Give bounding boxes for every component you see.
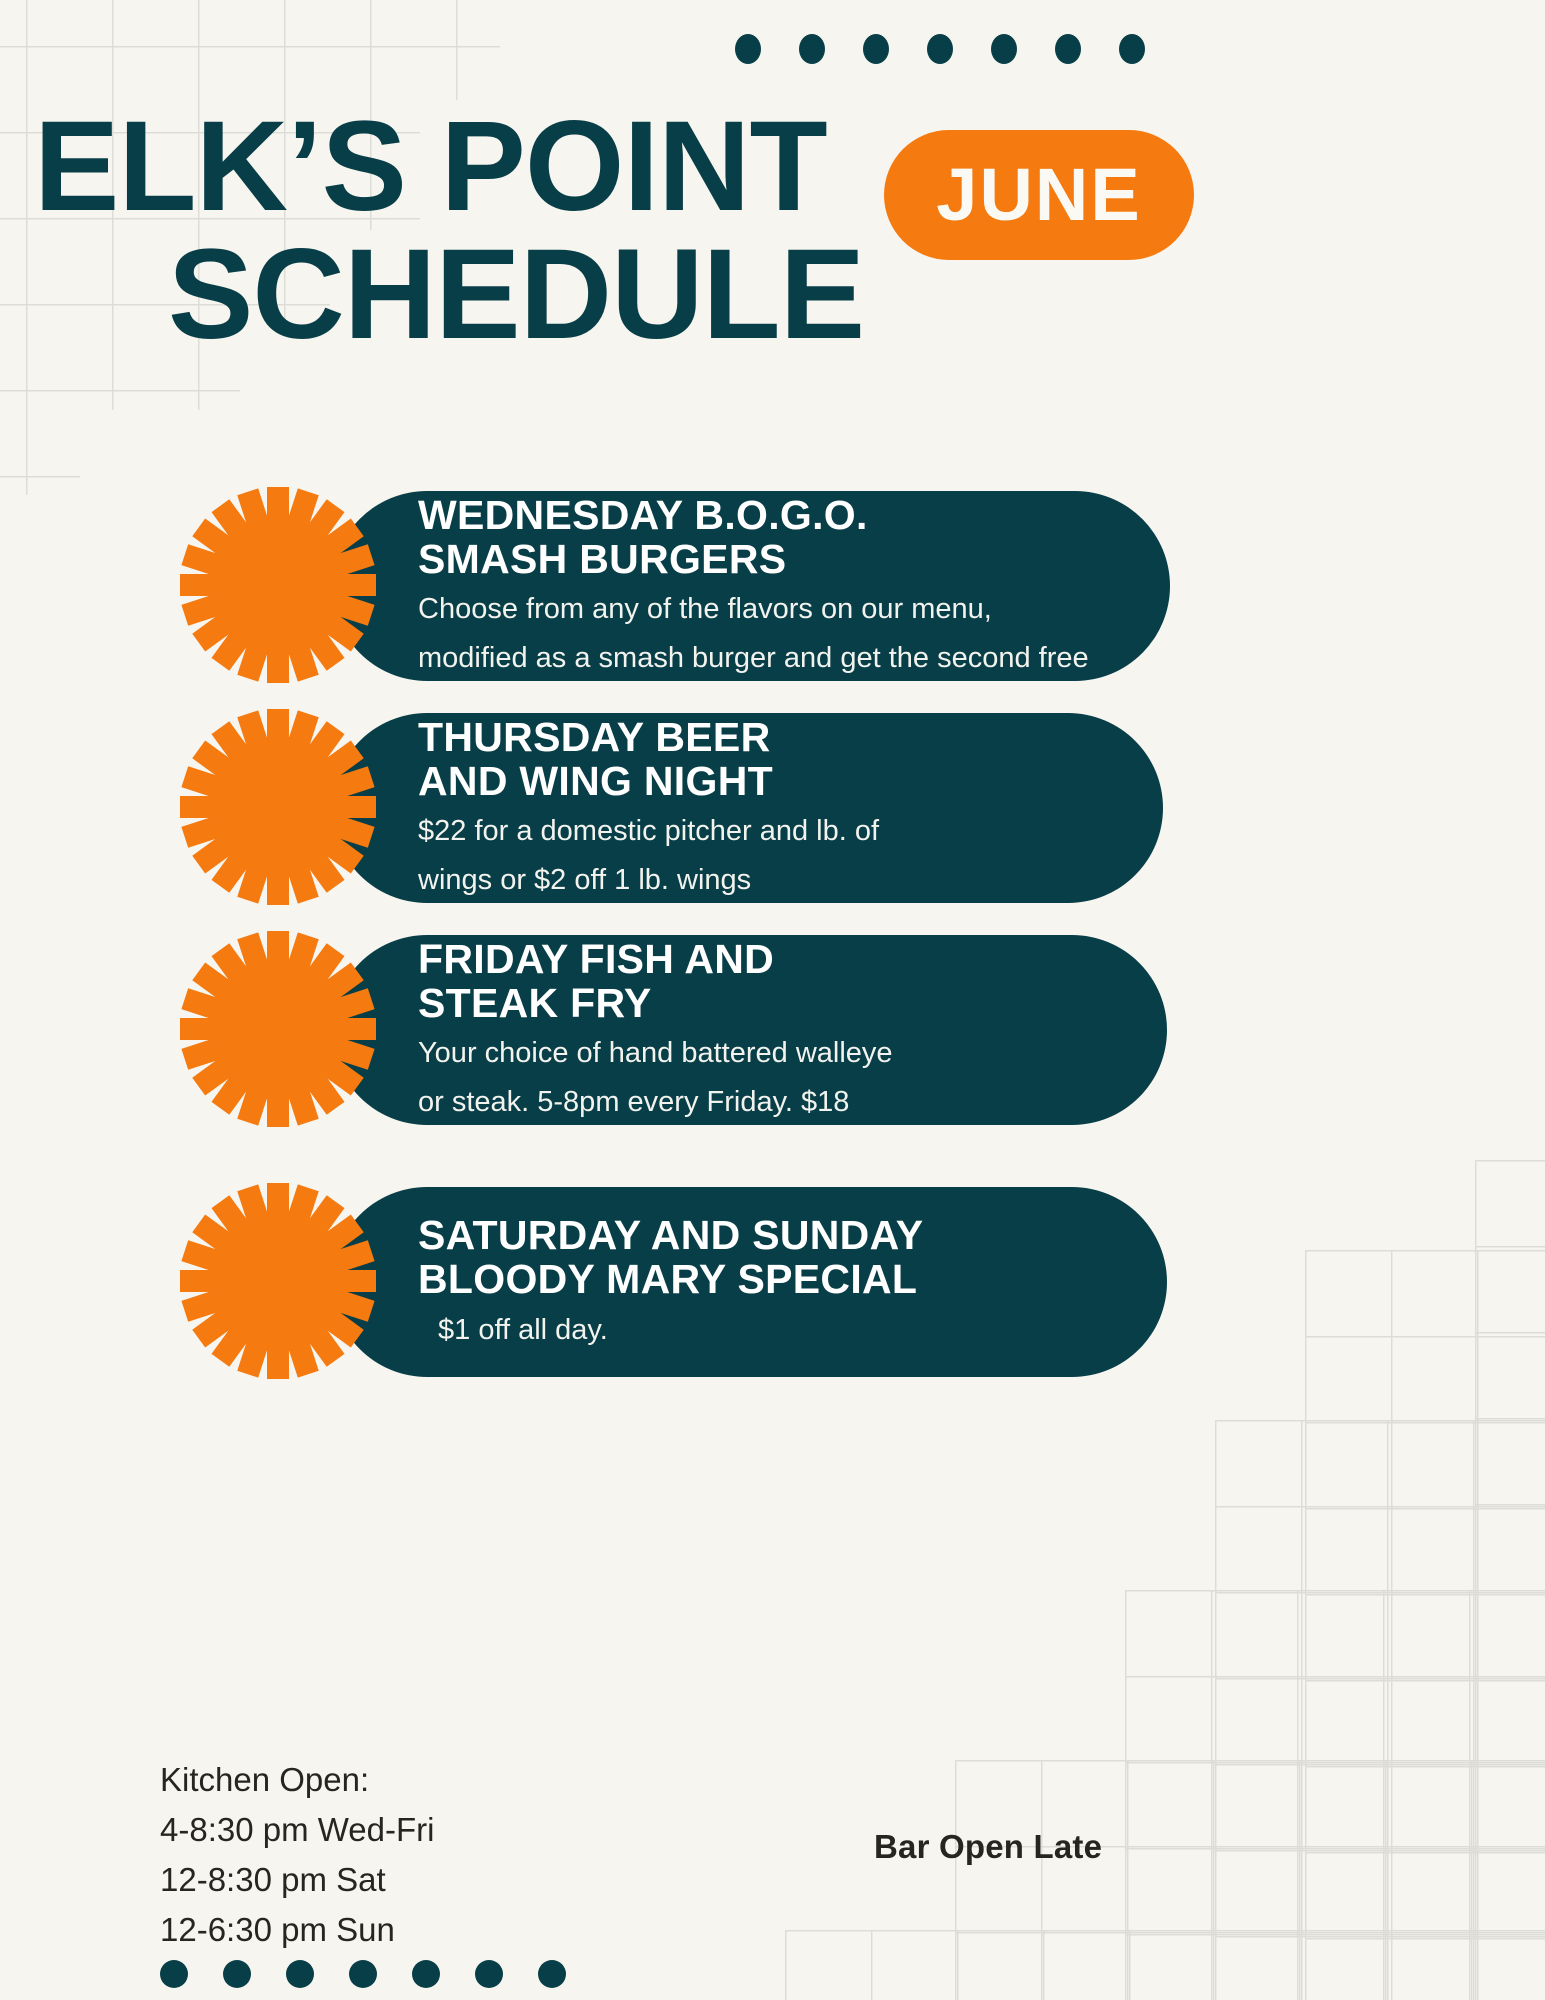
kitchen-hours-line: 12-8:30 pm Sat [160,1855,434,1905]
schedule-card-title: SATURDAY AND SUNDAY [418,1213,1107,1257]
schedule-card: WEDNESDAY B.O.G.O. SMASH BURGERS Choose … [0,485,1545,681]
dot-decoration [863,34,889,64]
dot-decoration [223,1960,251,1988]
schedule-card-title: FRIDAY FISH AND [418,937,1107,981]
schedule-card-panel: THURSDAY BEER AND WING NIGHT $22 for a d… [332,713,1163,903]
grid-decoration-bottom-right [1215,1420,1545,2000]
schedule-card-panel: WEDNESDAY B.O.G.O. SMASH BURGERS Choose … [332,491,1170,681]
starburst-icon [178,929,378,1129]
schedule-card-title: WEDNESDAY B.O.G.O. [418,493,1110,537]
schedule-card-title: SMASH BURGERS [418,537,1110,581]
starburst-icon [178,1181,378,1381]
dot-row-top [735,34,1145,64]
schedule-card: SATURDAY AND SUNDAY BLOODY MARY SPECIAL … [0,1181,1545,1377]
dot-decoration [412,1960,440,1988]
dot-decoration [927,34,953,64]
dot-decoration [799,34,825,64]
page-title-line-1: ELK’S POINT [0,108,1545,226]
schedule-card-panel: SATURDAY AND SUNDAY BLOODY MARY SPECIAL … [332,1187,1167,1377]
dot-decoration [735,34,761,64]
dot-decoration [1055,34,1081,64]
schedule-card-title: STEAK FRY [418,981,1107,1025]
month-badge: JUNE [884,130,1194,260]
schedule-card-title: AND WING NIGHT [418,759,1103,803]
schedule-card: FRIDAY FISH AND STEAK FRY Your choice of… [0,929,1545,1125]
dot-row-bottom [160,1960,566,1988]
schedule-card-description: wings or $2 off 1 lb. wings [418,860,1103,901]
schedule-card-description: or steak. 5-8pm every Friday. $18 [418,1082,1107,1123]
bar-open-note: Bar Open Late [874,1828,1102,1866]
schedule-card: THURSDAY BEER AND WING NIGHT $22 for a d… [0,707,1545,903]
month-badge-label: JUNE [936,158,1141,232]
grid-decoration-bottom-right [785,1930,1545,2000]
kitchen-hours-block: Kitchen Open: 4-8:30 pm Wed-Fri 12-8:30 … [160,1755,434,1956]
schedule-card-title: THURSDAY BEER [418,715,1103,759]
dot-decoration [160,1960,188,1988]
schedule-card-list: WEDNESDAY B.O.G.O. SMASH BURGERS Choose … [0,485,1545,1403]
dot-decoration [1119,34,1145,64]
poster-canvas: ELK’S POINT SCHEDULE JUNE [0,0,1545,2000]
dot-decoration [538,1960,566,1988]
schedule-card-panel: FRIDAY FISH AND STEAK FRY Your choice of… [332,935,1167,1125]
kitchen-hours-heading: Kitchen Open: [160,1755,434,1805]
schedule-card-description: $1 off all day. [418,1310,1107,1351]
poster-header: ELK’S POINT SCHEDULE JUNE [0,108,1545,354]
page-title-line-2: SCHEDULE [0,236,1545,354]
dot-decoration [286,1960,314,1988]
grid-decoration-bottom-right [1125,1590,1545,2000]
grid-decoration-bottom-right [955,1760,1545,2000]
dot-decoration [349,1960,377,1988]
schedule-card-description: Your choice of hand battered walleye [418,1033,1107,1074]
starburst-icon [178,485,378,685]
starburst-icon [178,707,378,907]
schedule-card-title: BLOODY MARY SPECIAL [418,1257,1107,1301]
kitchen-hours-line: 4-8:30 pm Wed-Fri [160,1805,434,1855]
dot-decoration [991,34,1017,64]
schedule-card-description: $22 for a domestic pitcher and lb. of [418,811,1103,852]
schedule-card-description: Choose from any of the flavors on our me… [418,589,1110,630]
schedule-card-description: modified as a smash burger and get the s… [418,638,1110,679]
dot-decoration [475,1960,503,1988]
kitchen-hours-line: 12-6:30 pm Sun [160,1905,434,1955]
grid-decoration-top-left [0,0,500,100]
